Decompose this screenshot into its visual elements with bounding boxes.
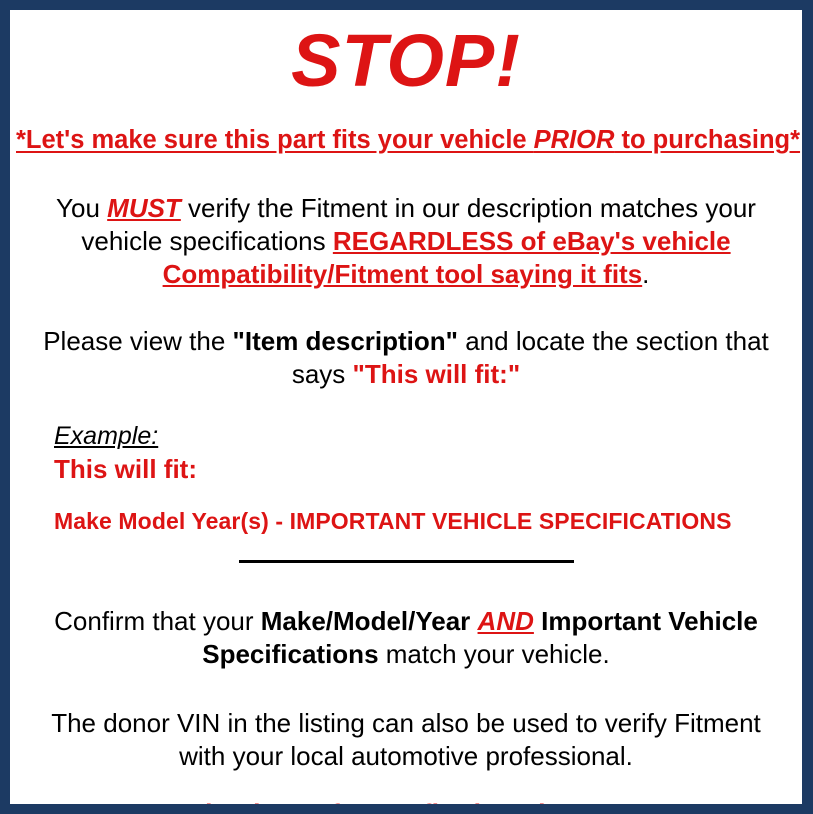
confirm-seg-3 <box>470 606 477 636</box>
and-emphasis: AND <box>478 606 534 636</box>
example-label: Example: <box>54 423 158 451</box>
paragraph-view-description: Please view the "Item description" and l… <box>10 325 802 391</box>
example-label-row: Example: <box>54 423 802 451</box>
must-emphasis: MUST <box>107 193 181 223</box>
item-description-emphasis: "Item description" <box>233 326 458 356</box>
thank-you-message: Thank you for confirming Fitment! <box>10 800 802 804</box>
tagline-text-after: to purchasing* <box>614 126 800 154</box>
example-block: Example: This will fit: Make Model Year(… <box>10 423 802 534</box>
this-will-fit-emphasis: "This will fit:" <box>353 359 521 389</box>
section-divider <box>239 560 574 563</box>
divider-wrapper <box>10 560 802 578</box>
paragraph-must-verify: You MUST verify the Fitment in our descr… <box>10 192 802 291</box>
paragraph-confirm: Confirm that your Make/Model/Year AND Im… <box>10 605 802 671</box>
view-seg-1: Please view the <box>43 326 232 356</box>
fitment-notice-frame: STOP! *Let's make sure this part fits yo… <box>0 0 813 814</box>
tagline-emphasis-prior: PRIOR <box>534 126 615 154</box>
tagline-banner: *Let's make sure this part fits your veh… <box>16 126 796 154</box>
must-seg-1: You <box>56 193 107 223</box>
make-model-year-emphasis: Make/Model/Year <box>261 606 471 636</box>
paragraph-donor-vin: The donor VIN in the listing can also be… <box>10 707 802 773</box>
example-spec-line: Make Model Year(s) - IMPORTANT VEHICLE S… <box>54 509 802 534</box>
page-title: STOP! <box>10 24 802 98</box>
example-fit-heading: This will fit: <box>54 455 802 485</box>
must-seg-5: . <box>642 259 649 289</box>
confirm-seg-1: Confirm that your <box>54 606 261 636</box>
fitment-notice-body: STOP! *Let's make sure this part fits yo… <box>10 10 802 804</box>
tagline-text-before: *Let's make sure this part fits your veh… <box>16 126 534 154</box>
confirm-seg-7: match your vehicle. <box>379 639 610 669</box>
